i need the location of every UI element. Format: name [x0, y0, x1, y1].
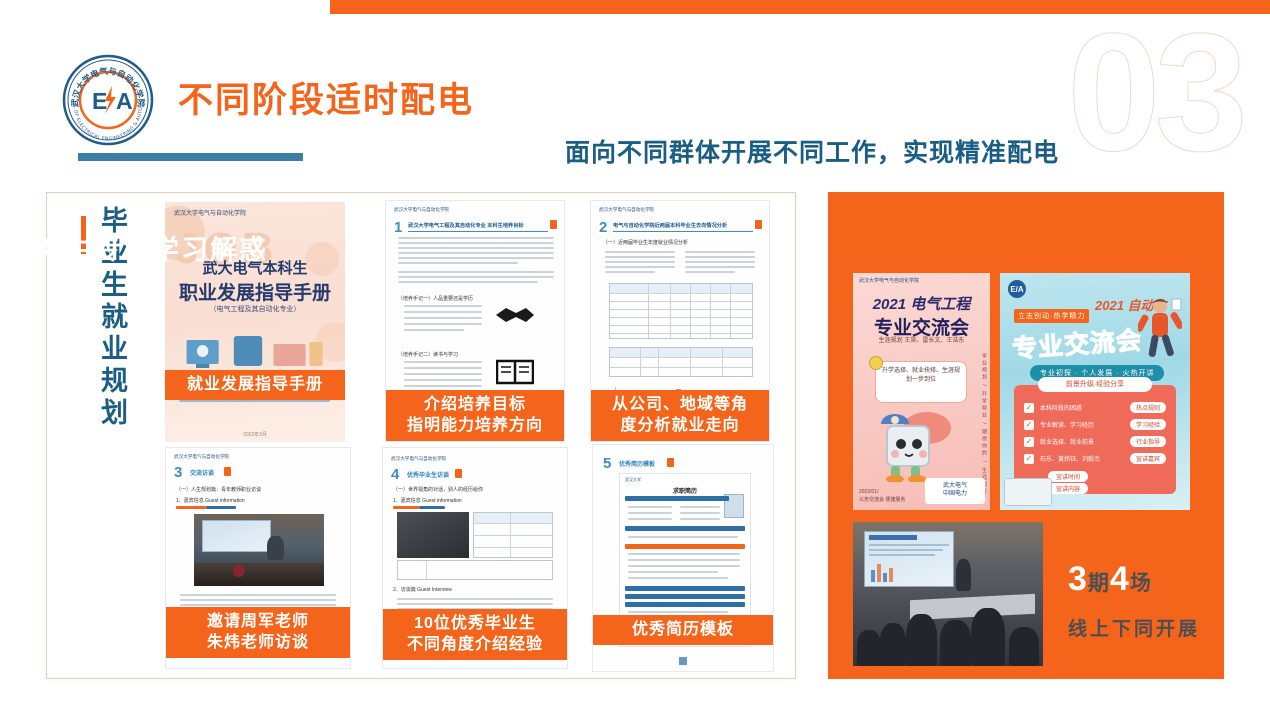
card-caption-alumni-interviews: 10位优秀毕业生 不同角度介绍经验 [383, 609, 567, 660]
runner-illustration [1138, 297, 1182, 369]
poster-main-line: 专业交流会 [853, 313, 990, 340]
card-resume-template[interactable]: 5 优秀简历模板 武汉大学 求职简历 [592, 444, 774, 672]
footnote-content: 宣讲内容 [1048, 483, 1088, 494]
star-icon [869, 356, 883, 370]
doc-sub3: 2、访谈篇 Guest Interview [393, 586, 452, 593]
podium [194, 563, 324, 586]
doc-heading: 电气与自动化学院近两届本科毕业生去向情况分析 [613, 222, 753, 232]
handshake-icon [494, 301, 536, 334]
stats-table-2 [609, 347, 753, 377]
topic-text: 石乐、黄炜钰、刘毅杰 [1040, 454, 1124, 463]
card-caption-employment-analysis: 从公司、地域等角 度分析就业走向 [591, 390, 769, 441]
poster-main-line: 专业交流会 [1011, 321, 1143, 366]
card-training-goals[interactable]: 武汉大学电气与自动化学院 1 武汉大学电气工程及其自动化专业 本科生培养目标 （… [385, 200, 565, 442]
unit-sessions: 场 [1130, 572, 1152, 595]
doc-org: 武汉大学电气与自动化学院 [599, 207, 654, 213]
poster-footer-note: 义务交流会 便捷服务 [859, 497, 905, 503]
doc-heading: 武汉大学电气工程及其自动化专业 本科生培养目标 [408, 222, 548, 232]
handbook-line3: （电气工程及其自动化专业） [165, 304, 345, 314]
caption-line-1: 介绍培养目标 [424, 396, 526, 413]
poster-side-text: 学业规划 / 升学就业 / 期待你的 / 生涯同行 [981, 353, 988, 496]
speaker-figure [956, 559, 971, 591]
session-count: 3期4场 [1068, 560, 1152, 599]
doc-number: 3 [174, 464, 182, 481]
handbook-org: 武汉大学电气与自动化学院 [174, 208, 246, 217]
card-teacher-interview[interactable]: 武汉大学电气与自动化学院 3 交流访谈 （一）人生规划篇：青年教师职业访谈 1、… [165, 447, 351, 669]
doc-sub1: （培养手记一）人品重要还是学历 [398, 295, 473, 302]
page-footer-number [679, 657, 687, 665]
session-mode-note: 线上下同开展 [1068, 614, 1200, 641]
topic-tag: 宣讲嘉宾 [1130, 453, 1166, 464]
doc-sub2: （培养手记二）读书与学习 [398, 351, 458, 358]
doc-org: 武汉大学电气与自动化学院 [174, 454, 229, 460]
doc-sub2: 1、嘉宾信息 Guest information [176, 497, 245, 504]
doc-number: 2 [599, 219, 607, 236]
topic-tag: 学习经验 [1130, 419, 1166, 430]
poster-partner-badge: 武大电气 中国电力 [925, 478, 985, 504]
caption-line-1: 从公司、地域等角 [612, 396, 748, 413]
audience-figures [853, 591, 1043, 666]
poster-bubble-text: 升学选择、就业抉择、生涯规划一步到位 [875, 361, 967, 403]
topic-row: ✓ 专业解读、学习经历 学习经验 [1024, 418, 1166, 431]
page-subtitle: 面向不同群体开展不同工作，实现精准配电 [565, 133, 1059, 169]
check-icon: ✓ [1024, 437, 1034, 447]
caption-line-2: 朱炜老师访谈 [207, 634, 309, 651]
doc-marker-icon [224, 467, 231, 476]
poster-emblem-badge: E/A [1008, 280, 1026, 298]
topics-card-header: 前景升级·经验分享 [1038, 377, 1152, 392]
doc-marker-icon [550, 220, 557, 229]
doc-sub2: 1、嘉宾信息 Guest information [393, 497, 462, 504]
check-icon: ✓ [1024, 403, 1034, 413]
seminar-room-photo [853, 522, 1043, 666]
doc-heading: 交流访谈 [190, 468, 214, 477]
alumni-note-row [397, 560, 553, 580]
lecture-photo [194, 514, 324, 586]
count-sessions: 4 [1110, 560, 1130, 598]
stats-table-1 [609, 283, 753, 339]
projector-screen [864, 531, 953, 588]
speaker-figure [267, 536, 284, 560]
caption-line-2: 指明能力培养方向 [407, 417, 543, 434]
poster-tagline: 立志别动·热学精力 [1014, 309, 1089, 323]
doc-sub1: （一）近两届毕业生年度就业情况分析 [603, 239, 688, 246]
school-logo: 武汉大学电气与自动化学院 SCHOOL OF ELECTRICAL ENGINE… [62, 54, 154, 146]
card-employment-analysis[interactable]: 武汉大学电气与自动化学院 2 电气与自动化学院近两届本科毕业生去向情况分析 （一… [590, 200, 770, 442]
laptop-illustration [1004, 478, 1052, 506]
caption-line-1: 邀请周军老师 [207, 613, 309, 630]
title-underline [78, 153, 303, 161]
check-icon: ✓ [1024, 420, 1034, 430]
freshman-guidance-title: 新生专业学习解惑 [36, 228, 268, 267]
footnote-time: 宣讲时间 [1048, 471, 1088, 482]
doc-number: 1 [394, 219, 402, 236]
poster-automation-2021[interactable]: E/A 立志别动·热学精力 2021 自动化 专业交流会 专业初探 · 个人发展… [1000, 273, 1190, 510]
doc-marker-icon [667, 458, 674, 467]
topic-text: 本科阶段的困惑 [1040, 403, 1124, 412]
topic-row: ✓ 就业选择、就业前景 行业指导 [1024, 435, 1166, 448]
card-caption-training-goals: 介绍培养目标 指明能力培养方向 [386, 390, 564, 441]
slide-number-watermark: 03 [1067, 8, 1242, 176]
svg-text:A: A [116, 88, 133, 114]
topic-row: ✓ 石乐、黄炜钰、刘毅杰 宣讲嘉宾 [1024, 452, 1166, 465]
topic-tag: 热点规则 [1130, 402, 1166, 413]
caption-line-2: 不同角度介绍经验 [407, 636, 543, 653]
doc-heading: 优秀简历模板 [619, 459, 655, 468]
doc-number: 4 [391, 466, 399, 483]
topic-row: ✓ 本科阶段的困惑 热点规则 [1024, 401, 1166, 414]
poster-org: 武汉大学电气与自动化学院 [859, 277, 919, 284]
doc-sub1: （一）世界视角的对话，别人的经历给你 [393, 486, 483, 493]
doc-sub1: （一）人生规划篇：青年教师职业访谈 [176, 486, 261, 493]
alumni-photo [397, 512, 469, 558]
card-caption-resume-template: 优秀简历模板 [593, 615, 773, 645]
doc-org: 武汉大学电气与自动化学院 [391, 456, 446, 462]
handbook-line2: 职业发展指导手册 [165, 278, 345, 305]
doc-marker-icon [455, 469, 462, 478]
topic-tag: 行业指导 [1130, 436, 1166, 447]
check-icon: ✓ [1024, 454, 1034, 464]
caption-line-2: 度分析就业走向 [620, 417, 739, 434]
doc-number: 5 [603, 455, 611, 472]
page-title: 不同阶段适时配电 [178, 72, 474, 123]
topic-text: 专业解读、学习经历 [1040, 420, 1124, 429]
book-icon [496, 357, 534, 392]
robot-mascot [877, 402, 953, 482]
projector-screen [202, 520, 272, 552]
card-alumni-interviews[interactable]: 武汉大学电气与自动化学院 4 优秀毕业生访谈 （一）世界视角的对话，别人的经历给… [382, 447, 568, 669]
topic-text: 就业选择、就业前景 [1040, 437, 1124, 446]
poster-year-line: 2021 电气工程 [853, 293, 990, 314]
card-caption-teacher-interview: 邀请周军老师 朱炜老师访谈 [166, 607, 350, 658]
poster-footer: 2022/01/ 义务交流会 便捷服务 [859, 489, 905, 504]
doc-org: 武汉大学电气与自动化学院 [394, 207, 449, 213]
doc-marker-icon [755, 220, 762, 229]
alumni-info-table [473, 512, 553, 558]
poster-footer-date: 2022/01/ [859, 489, 878, 495]
caption-line-1: 10位优秀毕业生 [414, 615, 536, 632]
badge-line1: 武大电气 [943, 483, 967, 491]
count-periods: 3 [1068, 560, 1088, 598]
doc-heading: 优秀毕业生访谈 [407, 470, 449, 479]
badge-line2: 中国电力 [943, 491, 967, 499]
handbook-date: 2022年3月 [165, 431, 345, 438]
poster-sub-line: 生涯规划 王昊、雷长文、王浩东 [853, 337, 990, 346]
unit-periods: 期 [1088, 572, 1110, 595]
poster-electrical-2021[interactable]: 武汉大学电气与自动化学院 2021 电气工程 专业交流会 生涯规划 王昊、雷长文… [853, 273, 990, 510]
card-caption-handbook: 就业发展指导手册 [165, 370, 345, 400]
